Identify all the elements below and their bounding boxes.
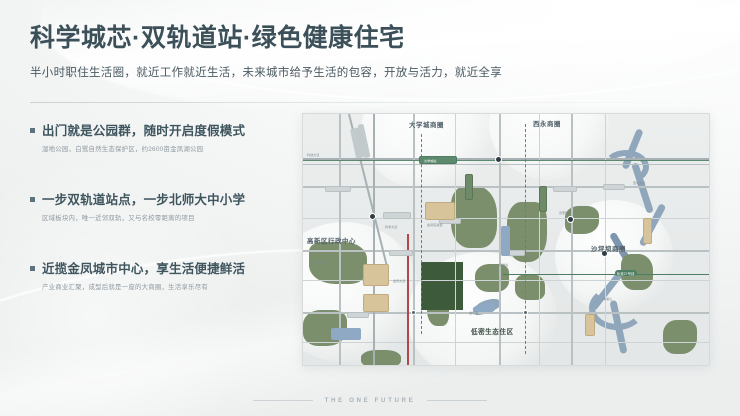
road-vertical <box>413 114 415 366</box>
poi-name-label: 金凤实验室 <box>427 222 442 227</box>
poi-name-label: 科学谷 <box>499 262 508 267</box>
metro-line-dashed <box>525 124 526 354</box>
district-label: 大学城商圈 <box>409 120 444 129</box>
square-bullet-icon <box>30 197 35 202</box>
bullet-heading-row: 近揽金凤城市中心，享生活便捷鲜活 <box>30 258 295 277</box>
poi-name-label: 中梁山 <box>603 296 612 301</box>
road-name-label: 金凤湖 <box>469 310 478 315</box>
feature-title: 近揽金凤城市中心，享生活便捷鲜活 <box>42 258 245 277</box>
river-bend <box>589 286 645 330</box>
metro-line-dashed <box>421 134 422 334</box>
road-horizontal <box>303 186 710 188</box>
road-name-label: 科技大道 <box>307 152 319 157</box>
footer-brand-text: THE ONE FUTURE <box>325 397 416 404</box>
road-vertical <box>539 114 540 366</box>
square-bullet-icon <box>30 266 35 271</box>
location-map-panel: 轨道27号线 大学城站 <box>302 113 710 366</box>
poi-name-label: 曾家镇 <box>559 210 568 215</box>
station-node-small <box>523 310 528 315</box>
metro-line-27 <box>503 274 710 275</box>
landmark-tan <box>363 294 389 312</box>
district-label: 沙坪坝商圈 <box>591 244 626 253</box>
river-bend <box>603 150 649 184</box>
feature-list: 出门就是公园群，随时开启度假模式 湿地公园，白鹭自然生态保护区，约2600亩金凤… <box>30 120 295 291</box>
road-vertical <box>373 114 375 366</box>
road-horizontal <box>303 164 710 165</box>
feature-title: 一步双轨道站点，一步北师大中小学 <box>42 189 245 208</box>
park-area <box>361 350 401 366</box>
road-vertical <box>605 114 606 366</box>
landmark-tan <box>643 218 652 244</box>
poi-name-label: 白鹭保护区 <box>313 260 328 265</box>
feature-subtext: 区域板块内，唯一近邻双轨，又与名校零距离的项目 <box>42 213 295 222</box>
poi-marker <box>383 212 411 219</box>
feature-subtext: 湿地公园，白鹭自然生态保护区，约2600亩金凤湖公园 <box>42 144 295 153</box>
poi-marker <box>347 312 369 318</box>
slide-root: 科学城芯·双轨道站·绿色健康住宅 半小时职住生活圈，就近工作就近生活，未来城市给… <box>0 0 740 416</box>
bullet-heading-row: 出门就是公园群，随时开启度假模式 <box>30 120 295 139</box>
feature-title: 出门就是公园群，随时开启度假模式 <box>42 120 245 139</box>
footer-divider-left <box>253 400 313 401</box>
list-item: 一步双轨道站点，一步北师大中小学 区域板块内，唯一近邻双轨，又与名校零距离的项目 <box>30 189 295 222</box>
footer-divider-right <box>427 400 487 401</box>
district-label: 高新区行政中心 <box>307 236 356 245</box>
road-vertical <box>571 114 573 366</box>
slide-footer: THE ONE FUTURE <box>0 397 740 404</box>
landmark-blue <box>501 226 510 256</box>
project-label: 低密生态住区 <box>471 326 514 336</box>
poi-name-label: 科学大道 <box>385 224 397 229</box>
page-title: 科学城芯·双轨道站·绿色健康住宅 <box>30 24 720 53</box>
park-area <box>475 264 509 292</box>
road-vertical <box>455 114 456 366</box>
slide-header: 科学城芯·双轨道站·绿色健康住宅 半小时职住生活圈，就近工作就近生活，未来城市给… <box>30 24 720 80</box>
list-item: 近揽金凤城市中心，享生活便捷鲜活 产业商业汇聚，成型后就是一座的大商圈，生活享乐… <box>30 258 295 291</box>
list-item: 出门就是公园群，随时开启度假模式 湿地公园，白鹭自然生态保护区，约2600亩金凤… <box>30 120 295 153</box>
park-area <box>451 186 497 248</box>
landmark-tan <box>425 202 455 220</box>
district-label: 西永商圈 <box>533 119 561 128</box>
landmark-tan <box>363 264 389 286</box>
bullet-heading-row: 一步双轨道站点，一步北师大中小学 <box>30 189 295 208</box>
road-name-label: 金凤大道 <box>393 278 405 283</box>
station-node <box>567 216 574 223</box>
metro-line-badge: 轨道27号线 <box>615 270 637 276</box>
park-area <box>663 320 697 354</box>
road-name-label: 西永大道 <box>633 180 645 185</box>
metro-line-horizontal <box>303 160 710 161</box>
road-horizontal <box>303 342 710 343</box>
park-area <box>515 274 545 300</box>
station-node <box>369 213 376 220</box>
landmark-tan <box>585 314 595 336</box>
poi-marker <box>603 184 625 190</box>
square-bullet-icon <box>30 128 35 133</box>
header-divider <box>30 102 710 103</box>
station-pill-label: 大学城站 <box>424 158 436 163</box>
project-plot <box>421 262 463 310</box>
landmark-green <box>539 186 547 212</box>
landmark-green <box>465 174 473 200</box>
station-node <box>495 156 502 163</box>
map-canvas: 轨道27号线 大学城站 <box>303 114 709 365</box>
feature-subtext: 产业商业汇聚，成型后就是一座的大商圈，生活享乐尽有 <box>42 282 295 291</box>
poi-marker <box>389 250 413 256</box>
station-node-small <box>411 310 416 315</box>
poi-marker <box>553 186 577 192</box>
landmark-blue <box>331 328 361 340</box>
page-subtitle: 半小时职住生活圈，就近工作就近生活，未来城市给予生活的包容，开放与活力，就近全享 <box>30 64 720 80</box>
poi-marker <box>325 186 351 192</box>
